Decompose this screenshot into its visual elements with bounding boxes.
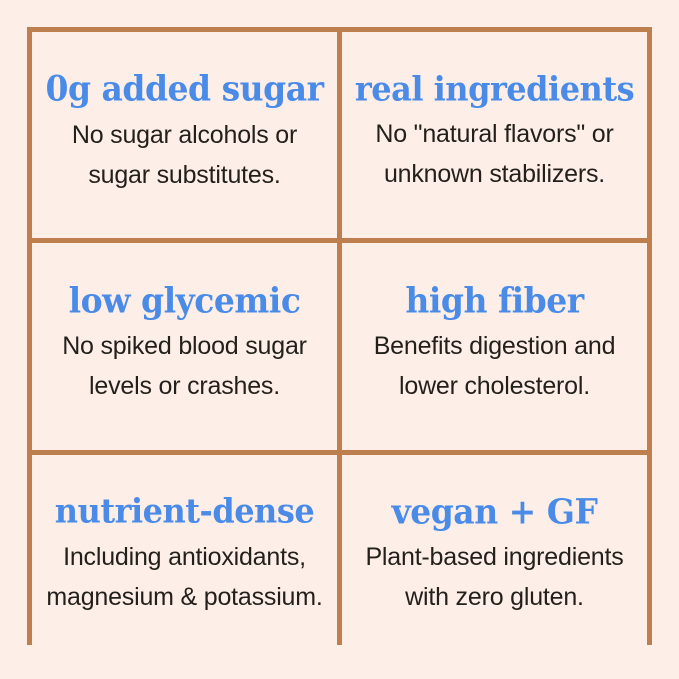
benefit-description-line: sugar substitutes.: [72, 155, 297, 195]
benefit-description: Including antioxidants, magnesium & pota…: [46, 537, 322, 617]
benefit-description-line: levels or crashes.: [62, 366, 307, 406]
benefit-cell-real-ingredients: real ingredients No "natural flavors" or…: [342, 32, 647, 238]
benefit-cell-low-glycemic: low glycemic No spiked blood sugar level…: [32, 243, 337, 450]
benefit-cell-high-fiber: high fiber Benefits digestion and lower …: [342, 243, 647, 450]
benefit-description-line: lower cholesterol.: [374, 366, 616, 406]
benefit-heading: 0g added sugar: [45, 70, 323, 107]
benefit-heading: high fiber: [405, 282, 583, 319]
benefit-cell-vegan-gf: vegan + GF Plant-based ingredients with …: [342, 455, 647, 660]
benefit-description: No sugar alcohols or sugar substitutes.: [72, 115, 297, 195]
benefit-heading: low glycemic: [69, 282, 301, 319]
benefit-description: No spiked blood sugar levels or crashes.: [62, 326, 307, 406]
benefit-description-line: No "natural flavors" or: [375, 114, 613, 154]
benefit-cell-added-sugar: 0g added sugar No sugar alcohols or suga…: [32, 32, 337, 238]
benefit-description-line: Plant-based ingredients: [365, 537, 623, 577]
benefit-description-line: unknown stabilizers.: [375, 154, 613, 194]
benefit-heading: nutrient-dense: [55, 494, 314, 530]
benefit-cell-nutrient-dense: nutrient-dense Including antioxidants, m…: [32, 455, 337, 660]
benefit-description: Plant-based ingredients with zero gluten…: [365, 537, 623, 617]
benefit-description-line: with zero gluten.: [365, 577, 623, 617]
benefit-heading: vegan + GF: [392, 493, 598, 530]
benefit-heading: real ingredients: [355, 71, 634, 107]
benefit-description-line: Including antioxidants,: [46, 537, 322, 577]
benefit-description: Benefits digestion and lower cholesterol…: [374, 326, 616, 406]
benefit-description-line: No spiked blood sugar: [62, 326, 307, 366]
benefit-description-line: magnesium & potassium.: [46, 577, 322, 617]
benefits-grid: 0g added sugar No sugar alcohols or suga…: [27, 27, 652, 645]
benefit-description-line: No sugar alcohols or: [72, 115, 297, 155]
benefit-description: No "natural flavors" or unknown stabiliz…: [375, 114, 613, 194]
benefit-description-line: Benefits digestion and: [374, 326, 616, 366]
